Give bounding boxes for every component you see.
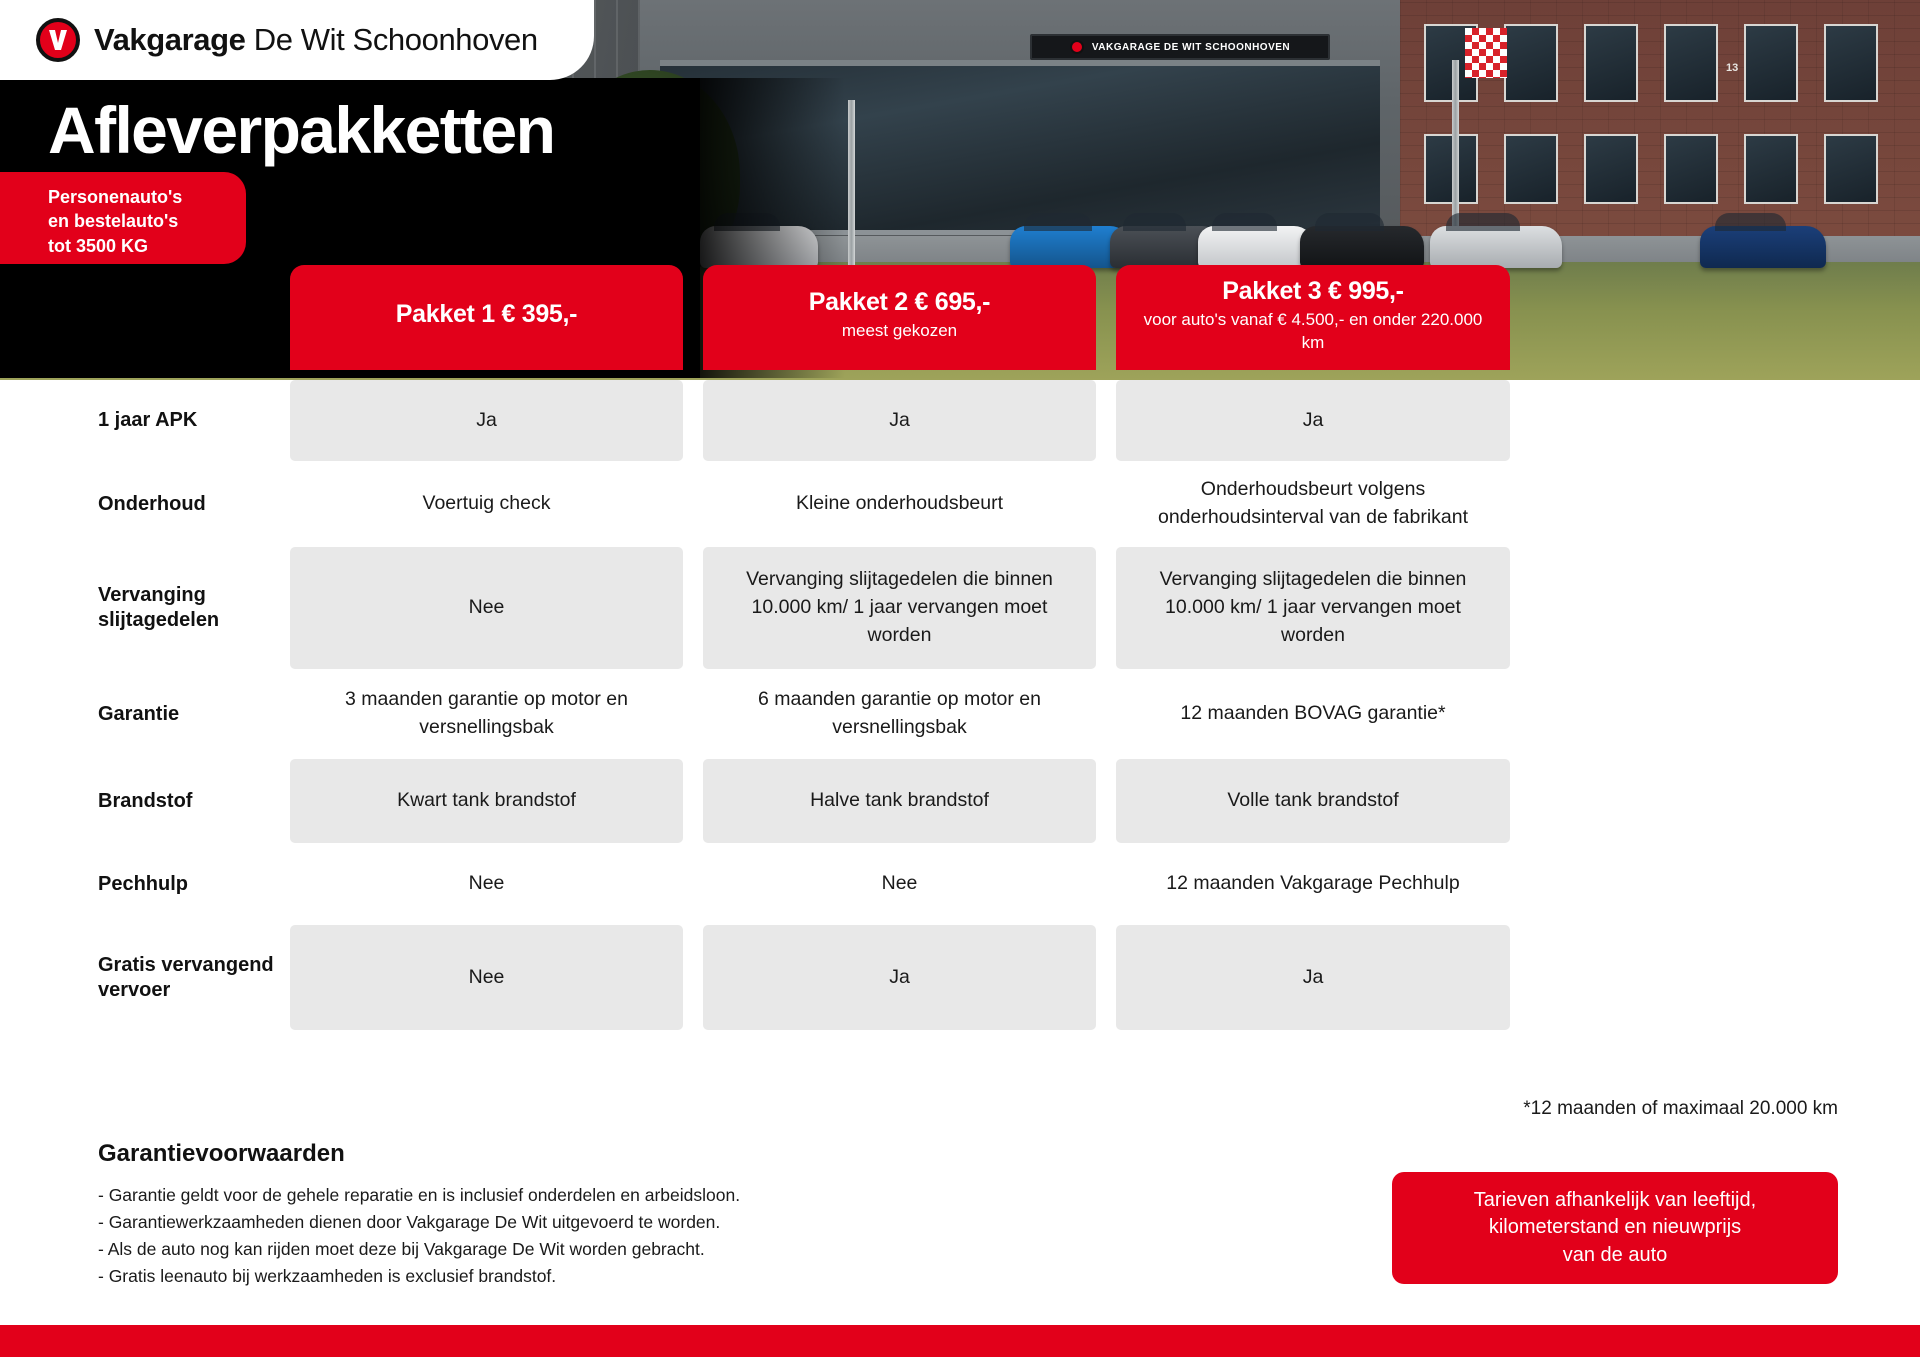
row-cells: Nee Nee 12 maanden Vakgarage Pechhulp <box>290 843 1890 925</box>
package-title: Pakket 1 € 395,- <box>396 300 577 329</box>
brick-window <box>1824 134 1878 204</box>
building-number: 13 <box>1726 62 1738 74</box>
table-cell: Nee <box>290 843 683 925</box>
table-cell: Nee <box>290 925 683 1030</box>
brand-logo-bar: Vakgarage De Wit Schoonhoven <box>0 0 594 80</box>
badge-line-1: Personenauto's <box>48 185 228 209</box>
table-row: Pechhulp Nee Nee 12 maanden Vakgarage Pe… <box>0 843 1920 925</box>
signboard-text: VAKGARAGE DE WIT SCHOONHOVEN <box>1092 42 1290 53</box>
disclaimer-line-3: van de auto <box>1474 1242 1756 1270</box>
row-cells: Kwart tank brandstof Halve tank brandsto… <box>290 759 1890 843</box>
package-header-2[interactable]: Pakket 2 € 695,- meest gekozen <box>703 265 1096 370</box>
table-cell: Ja <box>1116 380 1510 461</box>
row-label: Brandstof <box>0 759 290 843</box>
table-cell: Ja <box>703 380 1096 461</box>
dealership-signboard: VAKGARAGE DE WIT SCHOONHOVEN <box>1030 34 1330 60</box>
brick-window <box>1584 134 1638 204</box>
table-cell: 6 maanden garantie op motor en versnelli… <box>703 669 1096 759</box>
row-cells: 3 maanden garantie op motor en versnelli… <box>290 669 1890 759</box>
showroom-glass-front <box>660 60 1380 235</box>
package-header-3[interactable]: Pakket 3 € 995,- voor auto's vanaf € 4.5… <box>1116 265 1510 370</box>
vakgarage-dot-icon <box>1070 40 1084 54</box>
pricing-disclaimer-box: Tarieven afhankelijk van leeftijd, kilom… <box>1392 1172 1838 1284</box>
table-cell: Vervanging slijtagedelen die binnen 10.0… <box>703 547 1096 669</box>
package-subtitle: voor auto's vanaf € 4.500,- en onder 220… <box>1130 309 1496 354</box>
table-cell: Voertuig check <box>290 461 683 547</box>
footer-accent-bar <box>0 1325 1920 1357</box>
badge-line-3: tot 3500 KG <box>48 234 228 258</box>
table-cell: Vervanging slijtagedelen die binnen 10.0… <box>1116 547 1510 669</box>
row-label: Vervanging slijtagedelen <box>0 547 290 669</box>
table-cell: Nee <box>703 843 1096 925</box>
row-label: Onderhoud <box>0 461 290 547</box>
warranty-heading: Garantievoorwaarden <box>98 1140 1048 1168</box>
table-cell: Kwart tank brandstof <box>290 759 683 843</box>
table-cell: Ja <box>1116 925 1510 1030</box>
row-label: 1 jaar APK <box>0 380 290 461</box>
brick-window <box>1744 134 1798 204</box>
brick-window <box>1664 134 1718 204</box>
vakgarage-v-logo-icon <box>36 18 80 62</box>
package-subtitle: meest gekozen <box>842 320 957 342</box>
table-row: Gratis vervangend vervoer Nee Ja Ja <box>0 925 1920 1030</box>
parked-car <box>1198 226 1314 268</box>
brick-window <box>1504 134 1558 204</box>
parked-car <box>1430 226 1562 268</box>
disclaimer-text: Tarieven afhankelijk van leeftijd, kilom… <box>1474 1187 1756 1270</box>
table-row: Garantie 3 maanden garantie op motor en … <box>0 669 1920 759</box>
table-row: Onderhoud Voertuig check Kleine onderhou… <box>0 461 1920 547</box>
table-cell: Nee <box>290 547 683 669</box>
table-cell: 3 maanden garantie op motor en versnelli… <box>290 669 683 759</box>
table-cell: Ja <box>703 925 1096 1030</box>
table-cell: Halve tank brandstof <box>703 759 1096 843</box>
light-pole <box>848 100 855 280</box>
disclaimer-line-1: Tarieven afhankelijk van leeftijd, <box>1474 1187 1756 1215</box>
flyer-page: VAKGARAGE DE WIT SCHOONHOVEN 13 Vakgarag… <box>0 0 1920 1357</box>
row-cells: Voertuig check Kleine onderhoudsbeurt On… <box>290 461 1890 547</box>
table-cell: Volle tank brandstof <box>1116 759 1510 843</box>
parked-car <box>1700 226 1826 268</box>
table-cell: 12 maanden Vakgarage Pechhulp <box>1116 843 1510 925</box>
warranty-footnote: *12 maanden of maximaal 20.000 km <box>0 1098 1838 1120</box>
row-cells: Nee Vervanging slijtagedelen die binnen … <box>290 547 1890 669</box>
warranty-conditions: Garantievoorwaarden - Garantie geldt voo… <box>98 1140 1048 1291</box>
package-comparison-table: 1 jaar APK Ja Ja Ja Onderhoud Voertuig c… <box>0 380 1920 1030</box>
package-header-1[interactable]: Pakket 1 € 395,- <box>290 265 683 370</box>
table-row: Vervanging slijtagedelen Nee Vervanging … <box>0 547 1920 669</box>
badge-line-2: en bestelauto's <box>48 209 228 233</box>
brand-name-bold: Vakgarage <box>94 22 246 57</box>
table-row: Brandstof Kwart tank brandstof Halve tan… <box>0 759 1920 843</box>
warranty-item: - Garantiewerkzaamheden dienen door Vakg… <box>98 1209 1048 1236</box>
brick-window <box>1664 24 1718 102</box>
brand-name-light: De Wit Schoonhoven <box>246 22 538 57</box>
brick-window <box>1504 24 1558 102</box>
package-title: Pakket 3 € 995,- <box>1222 277 1403 306</box>
package-title: Pakket 2 € 695,- <box>809 288 990 317</box>
warranty-item: - Garantie geldt voor de gehele reparati… <box>98 1182 1048 1209</box>
table-cell: 12 maanden BOVAG garantie* <box>1116 669 1510 759</box>
table-row: 1 jaar APK Ja Ja Ja <box>0 380 1920 461</box>
row-cells: Nee Ja Ja <box>290 925 1890 1030</box>
parked-car <box>700 226 818 268</box>
row-label: Pechhulp <box>0 843 290 925</box>
table-cell: Ja <box>290 380 683 461</box>
row-label: Garantie <box>0 669 290 759</box>
package-header-row: Pakket 1 € 395,- Pakket 2 € 695,- meest … <box>290 265 1890 370</box>
warranty-item: - Gratis leenauto bij werkzaamheden is e… <box>98 1263 1048 1290</box>
brick-window <box>1824 24 1878 102</box>
row-label: Gratis vervangend vervoer <box>0 925 290 1030</box>
disclaimer-line-2: kilometerstand en nieuwprijs <box>1474 1214 1756 1242</box>
vehicle-scope-badge: Personenauto's en bestelauto's tot 3500 … <box>0 172 246 264</box>
warranty-list: - Garantie geldt voor de gehele reparati… <box>98 1182 1048 1291</box>
brick-window <box>1744 24 1798 102</box>
brand-name: Vakgarage De Wit Schoonhoven <box>94 22 538 58</box>
table-cell: Onderhoudsbeurt volgens onderhoudsinterv… <box>1116 461 1510 547</box>
parked-car <box>1300 226 1424 268</box>
checkered-flag-decal <box>1465 28 1507 78</box>
row-cells: Ja Ja Ja <box>290 380 1890 461</box>
table-cell: Kleine onderhoudsbeurt <box>703 461 1096 547</box>
brick-window <box>1584 24 1638 102</box>
page-title: Afleverpakketten <box>48 92 554 168</box>
brick-window <box>1424 134 1478 204</box>
warranty-item: - Als de auto nog kan rijden moet deze b… <box>98 1236 1048 1263</box>
